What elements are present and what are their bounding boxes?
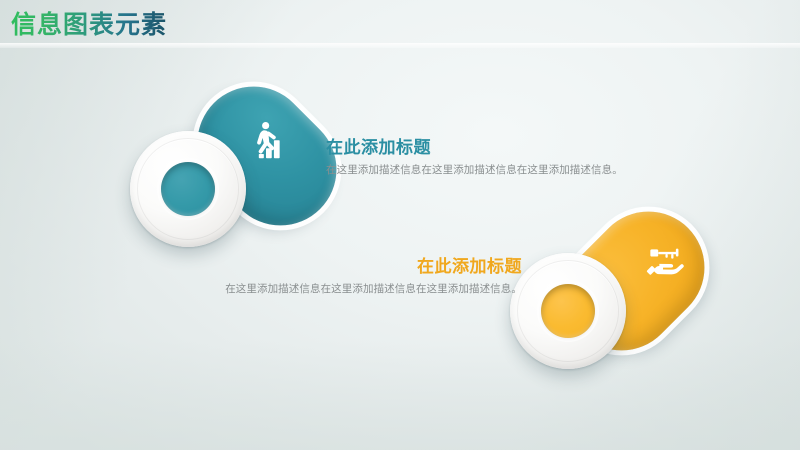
text-block-1: 在此添加标题 在这里添加描述信息在这里添加描述信息在这里添加描述信息。 xyxy=(326,136,626,178)
item-title-1: 在此添加标题 xyxy=(326,136,626,159)
item-title-2: 在此添加标题 xyxy=(152,255,522,278)
slide-header: 信息图表元素 xyxy=(0,0,800,48)
infographic-disc-orange[interactable] xyxy=(510,253,626,369)
infographic-disc-teal[interactable] xyxy=(130,131,246,247)
page-title: 信息图表元素 xyxy=(11,11,167,39)
header-divider xyxy=(0,43,800,48)
text-block-2: 在此添加标题 在这里添加描述信息在这里添加描述信息在这里添加描述信息。 xyxy=(152,255,522,297)
slide-canvas: 信息图表元素 在此添加标题 在这里添加描述信息在这里添加描述信息在这里添加描述信… xyxy=(0,0,800,450)
item-body-1: 在这里添加描述信息在这里添加描述信息在这里添加描述信息。 xyxy=(326,163,626,178)
item-body-2: 在这里添加描述信息在这里添加描述信息在这里添加描述信息。 xyxy=(152,282,522,297)
disc-core-orange xyxy=(541,284,595,338)
disc-core-teal xyxy=(161,162,215,216)
